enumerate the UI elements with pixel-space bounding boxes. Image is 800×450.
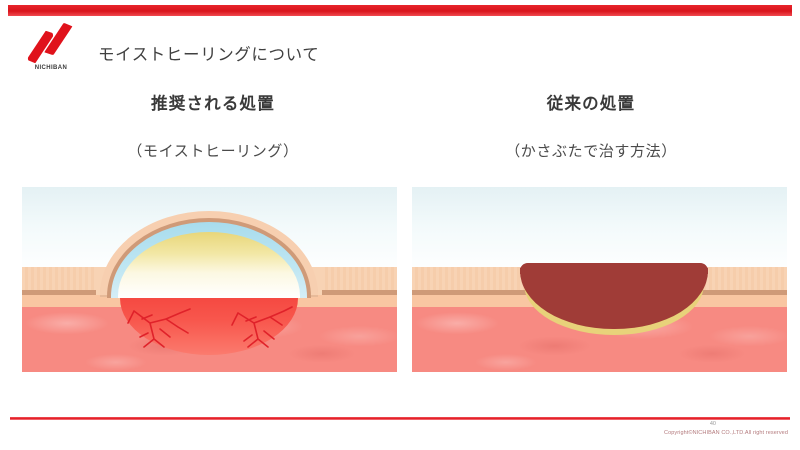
column-heading-recommended: 推奨される処置 [18,90,408,114]
page-title: モイストヒーリングについて [98,41,319,65]
logo-wordmark: NICHIBAN [20,65,82,71]
copyright-notice: Copyright©NICHIBAN CO.,LTD.All right res… [664,430,788,436]
column-heading-conventional: 従来の処置 [396,90,786,114]
page-number: 40 [710,421,716,427]
capillary-network-icon [120,293,298,355]
illustration-moist-healing [22,187,397,372]
slide-canvas: NICHIBAN モイストヒーリングについて 推奨される処置 （モイストヒーリン… [0,0,800,450]
nichiban-logo: NICHIBAN [20,22,82,80]
scab-crust-surface [520,261,708,273]
top-red-band [8,5,792,16]
illustration-scab-healing [412,187,787,372]
column-subheading-recommended: （モイストヒーリング） [18,140,408,161]
column-subheading-conventional: （かさぶたで治す方法） [396,140,786,161]
logo-marks [20,22,82,64]
bottom-red-rule [10,417,790,420]
